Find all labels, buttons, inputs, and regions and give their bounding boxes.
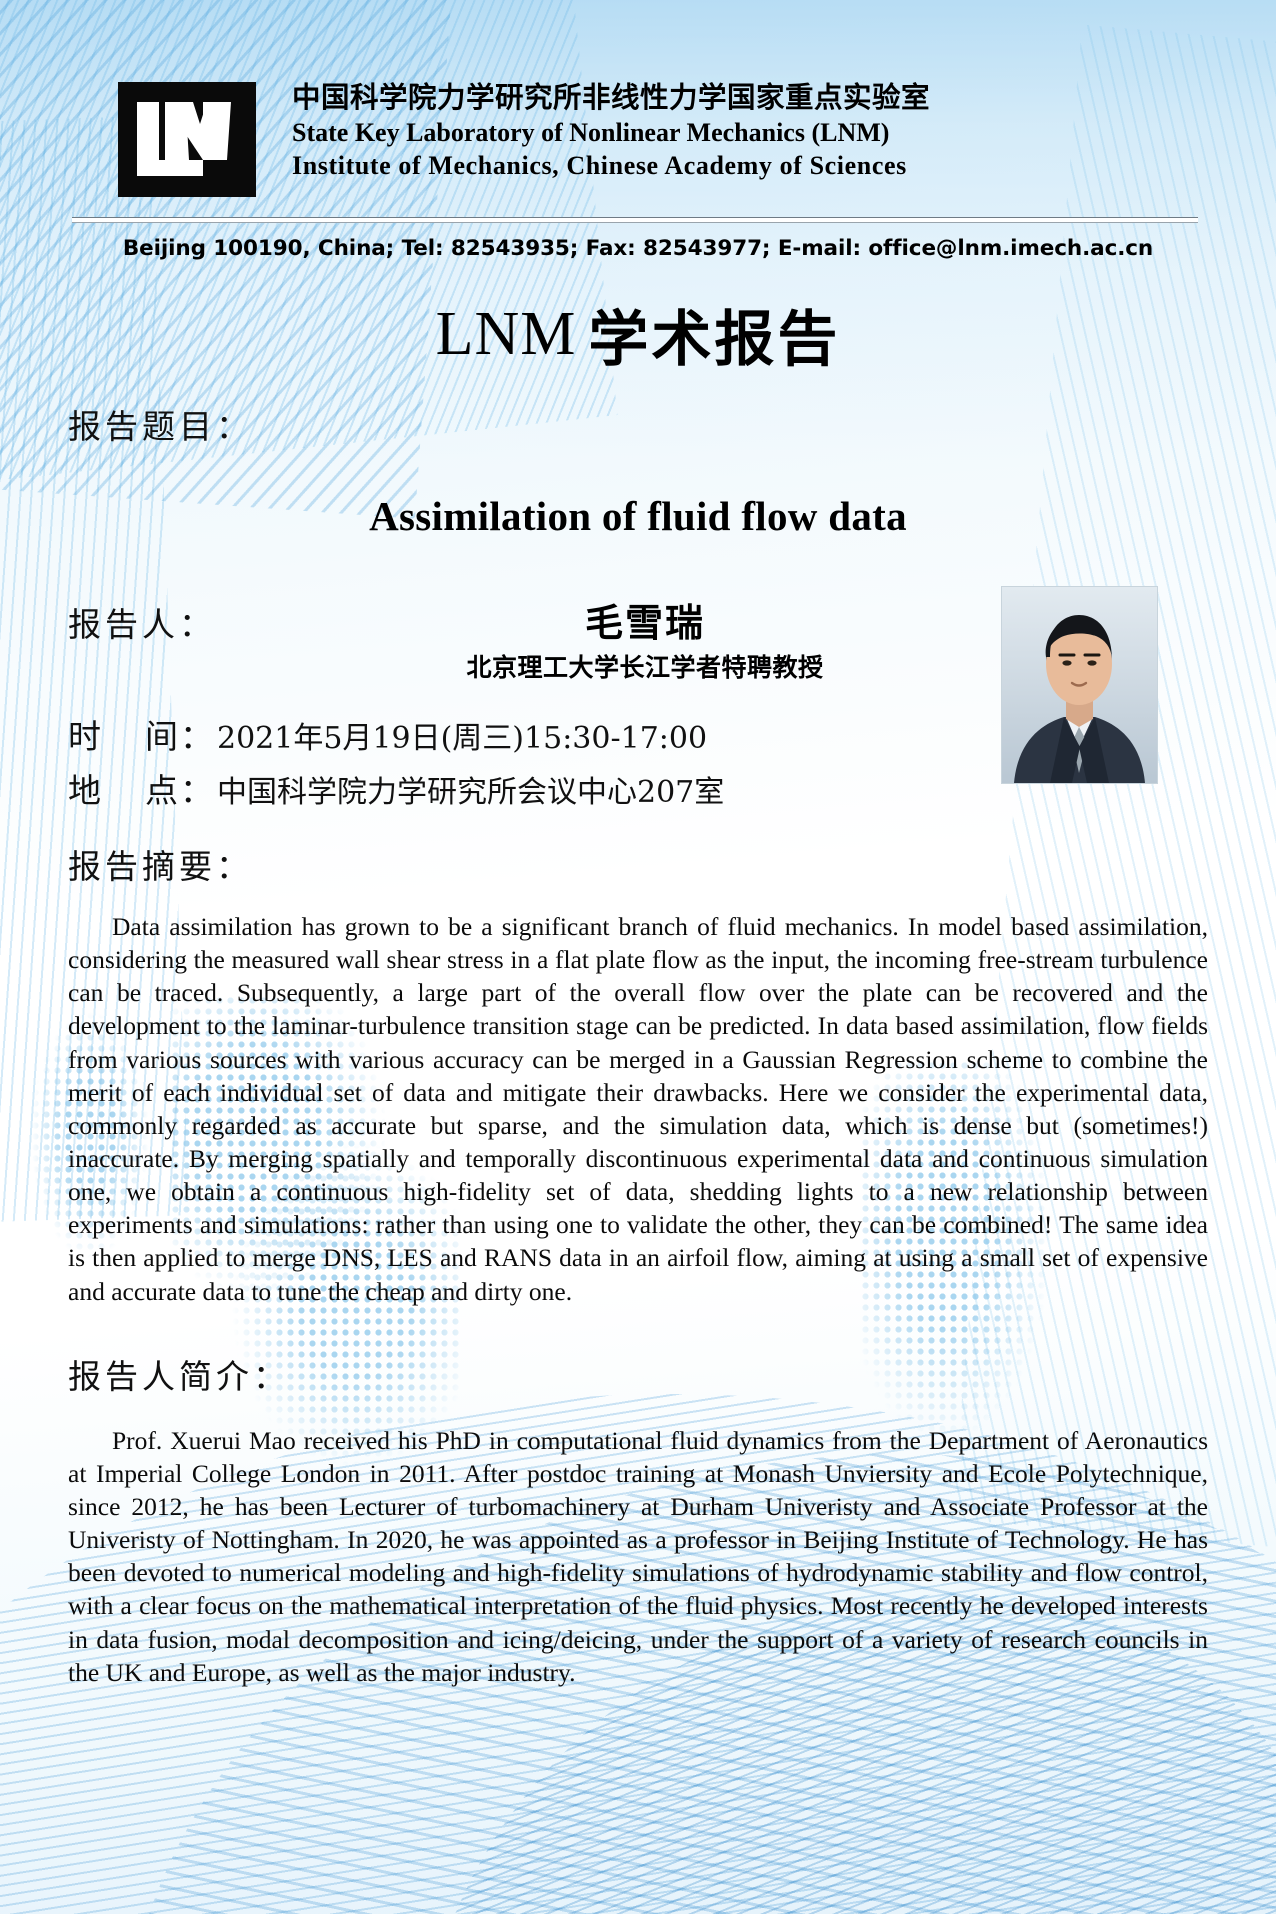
time-label: 时间：: [68, 710, 215, 758]
poster-header: 中国科学院力学研究所非线性力学国家重点实验室 State Key Laborat…: [0, 0, 1276, 197]
series-title: LNM学术报告: [0, 291, 1276, 378]
speaker-info-area: 报告人： 毛雪瑞 北京理工大学长江学者特聘教授: [0, 592, 1276, 822]
place-label: 地点：: [68, 764, 215, 812]
abstract-text: Data assimilation has grown to be a sign…: [68, 910, 1208, 1308]
seminar-poster: 中国科学院力学研究所非线性力学国家重点实验室 State Key Laborat…: [0, 0, 1276, 1914]
poster-content: 中国科学院力学研究所非线性力学国家重点实验室 State Key Laborat…: [0, 0, 1276, 1689]
time-value: 2021年5月19日(周三)15:30-17:00: [217, 713, 707, 757]
talk-title-label-row: 报告题目：: [68, 400, 1276, 448]
org-name-english-lab: State Key Laboratory of Nonlinear Mechan…: [292, 116, 930, 149]
talk-title: Assimilation of fluid flow data: [60, 492, 1216, 540]
org-name-chinese: 中国科学院力学研究所非线性力学国家重点实验室: [292, 80, 930, 116]
series-title-cjk: 学术报告: [588, 305, 840, 375]
bio-label-row: 报告人简介：: [68, 1350, 1276, 1398]
place-value: 中国科学院力学研究所会议中心207室: [217, 767, 724, 811]
speaker-name: 毛雪瑞: [430, 592, 860, 647]
lnm-logo: [118, 82, 256, 197]
abstract-label: 报告摘要：: [68, 847, 253, 886]
speaker-label: 报告人：: [68, 598, 216, 646]
org-name-english-institute: Institute of Mechanics, Chinese Academy …: [292, 149, 930, 182]
talk-title-label: 报告题目：: [68, 407, 253, 446]
organization-block: 中国科学院力学研究所非线性力学国家重点实验室 State Key Laborat…: [292, 78, 930, 182]
speaker-affiliation: 北京理工大学长江学者特聘教授: [400, 648, 890, 684]
time-row: 时间： 2021年5月19日(周三)15:30-17:00: [68, 710, 707, 758]
speaker-photo: [1001, 586, 1158, 784]
bio-label: 报告人简介：: [68, 1357, 290, 1396]
contact-line: Beijing 100190, China; Tel: 82543935; Fa…: [0, 236, 1276, 261]
place-row: 地点： 中国科学院力学研究所会议中心207室: [68, 764, 724, 812]
header-divider: [72, 217, 1198, 223]
series-title-latin: LNM: [436, 300, 577, 368]
bio-text: Prof. Xuerui Mao received his PhD in com…: [68, 1424, 1208, 1689]
abstract-label-row: 报告摘要：: [68, 840, 1276, 888]
